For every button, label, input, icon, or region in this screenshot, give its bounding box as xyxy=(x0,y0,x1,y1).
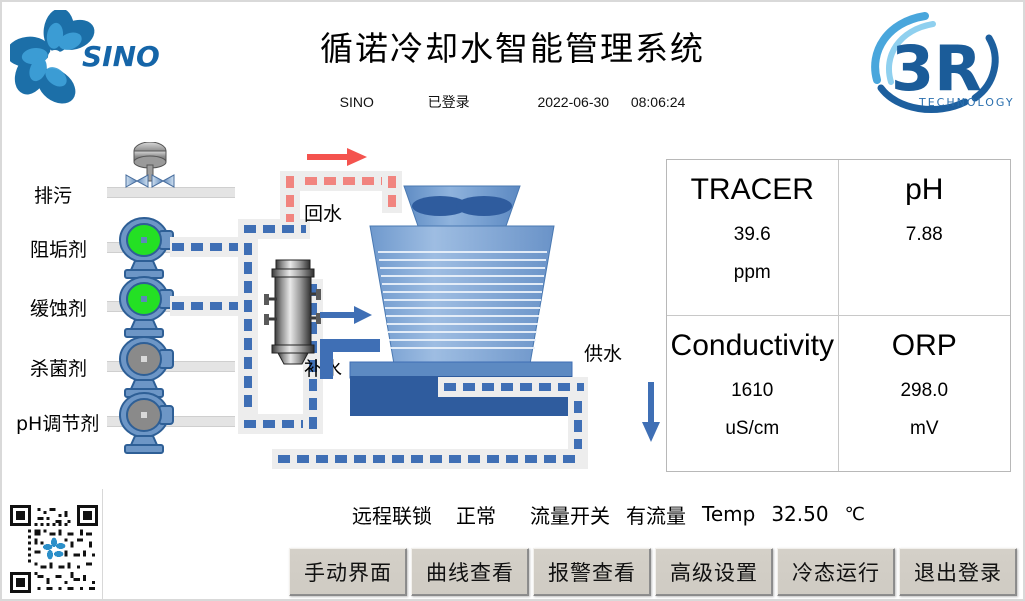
logout-button[interactable]: 退出登录 xyxy=(899,548,1017,596)
metric-name: TRACER xyxy=(691,172,814,208)
return-left-pipe xyxy=(286,176,294,222)
metric-tracer[interactable]: TRACER 39.6 ppm xyxy=(667,160,839,316)
metric-ph[interactable]: pH 7.88 xyxy=(839,160,1011,316)
makeup-pipe-v xyxy=(320,339,333,379)
pump-corrosion-inhibitor[interactable] xyxy=(117,276,175,338)
divider xyxy=(102,489,103,599)
metric-unit: mV xyxy=(910,418,939,440)
metric-orp[interactable]: ORP 298.0 mV xyxy=(839,316,1011,472)
metric-name: Conductivity xyxy=(671,328,834,364)
temp-unit: ℃ xyxy=(845,504,865,525)
cold-start-run-button[interactable]: 冷态运行 xyxy=(777,548,895,596)
header-date: 2022-06-30 xyxy=(537,94,609,110)
metric-unit: ppm xyxy=(734,262,771,284)
temp-value: 32.50 xyxy=(771,502,828,526)
metric-value: 39.6 xyxy=(734,224,771,246)
advanced-settings-button[interactable]: 高级设置 xyxy=(655,548,773,596)
metric-value: 1610 xyxy=(731,380,773,402)
pump-biocide[interactable] xyxy=(117,336,175,398)
remote-interlock-label: 远程联锁 xyxy=(352,500,432,529)
remote-interlock-value: 正常 xyxy=(456,500,496,529)
measurement-panel: TRACER 39.6 ppm pH 7.88 Conductivity 161… xyxy=(666,159,1011,472)
header-user: SINO xyxy=(340,94,374,110)
3r-technology-logo: 3R TECHNOLOGY xyxy=(863,6,1013,118)
button-bar: 手动界面 曲线查看 报警查看 高级设置 冷态运行 退出登录 xyxy=(289,548,1017,596)
pump-ph-adjuster[interactable] xyxy=(117,392,175,454)
metric-value: 298.0 xyxy=(900,380,948,402)
blowdown-valve[interactable] xyxy=(120,142,180,198)
header: SINO 循诺冷却水智能管理系统 SINO 已登录 2022-06-30 08:… xyxy=(2,2,1023,124)
label-blowdown: 排污 xyxy=(34,181,72,208)
metric-name: pH xyxy=(905,172,943,208)
pump-scale-inhibitor[interactable] xyxy=(117,217,175,279)
metric-name: ORP xyxy=(892,328,957,364)
supply-bottom-pipe xyxy=(278,455,582,463)
flow-switch-value: 有流量 xyxy=(626,500,686,529)
label-supply-water: 供水 xyxy=(584,339,622,366)
qr-code[interactable] xyxy=(10,505,98,593)
label-corrosion-inhibitor: 缓蚀剂 xyxy=(30,294,87,321)
metric-unit: uS/cm xyxy=(725,418,779,440)
hmi-screen: SINO 循诺冷却水智能管理系统 SINO 已登录 2022-06-30 08:… xyxy=(0,0,1025,601)
supply-top-pipe xyxy=(444,383,584,391)
header-time: 08:06:24 xyxy=(631,94,686,110)
loop-left-pipe xyxy=(244,224,252,424)
metric-conductivity[interactable]: Conductivity 1610 uS/cm xyxy=(667,316,839,472)
alarm-view-button[interactable]: 报警查看 xyxy=(533,548,651,596)
metric-value: 7.88 xyxy=(906,224,943,246)
process-diagram: 排污 阻垢剂 缓蚀剂 杀菌剂 pH调节剂 xyxy=(2,124,662,489)
label-ph-adjuster: pH调节剂 xyxy=(16,409,99,436)
manual-interface-button[interactable]: 手动界面 xyxy=(289,548,407,596)
supply-flow-arrow xyxy=(640,382,662,449)
curve-view-button[interactable]: 曲线查看 xyxy=(411,548,529,596)
temp-label: Temp xyxy=(702,502,755,526)
flow-switch-label: 流量开关 xyxy=(530,500,610,529)
label-scale-inhibitor: 阻垢剂 xyxy=(30,235,87,262)
dose-line-1 xyxy=(172,243,248,251)
loop-top-pipe xyxy=(244,225,306,233)
3r-logo-text: 3R xyxy=(891,32,982,105)
label-biocide: 杀菌剂 xyxy=(30,354,87,381)
label-return-water: 回水 xyxy=(304,199,342,226)
status-row: 远程联锁 正常 流量开关 有流量 Temp 32.50 ℃ xyxy=(352,497,1012,531)
3r-logo-subtext: TECHNOLOGY xyxy=(918,96,1013,109)
dose-line-2 xyxy=(172,302,248,310)
header-login-status: 已登录 xyxy=(428,92,470,112)
